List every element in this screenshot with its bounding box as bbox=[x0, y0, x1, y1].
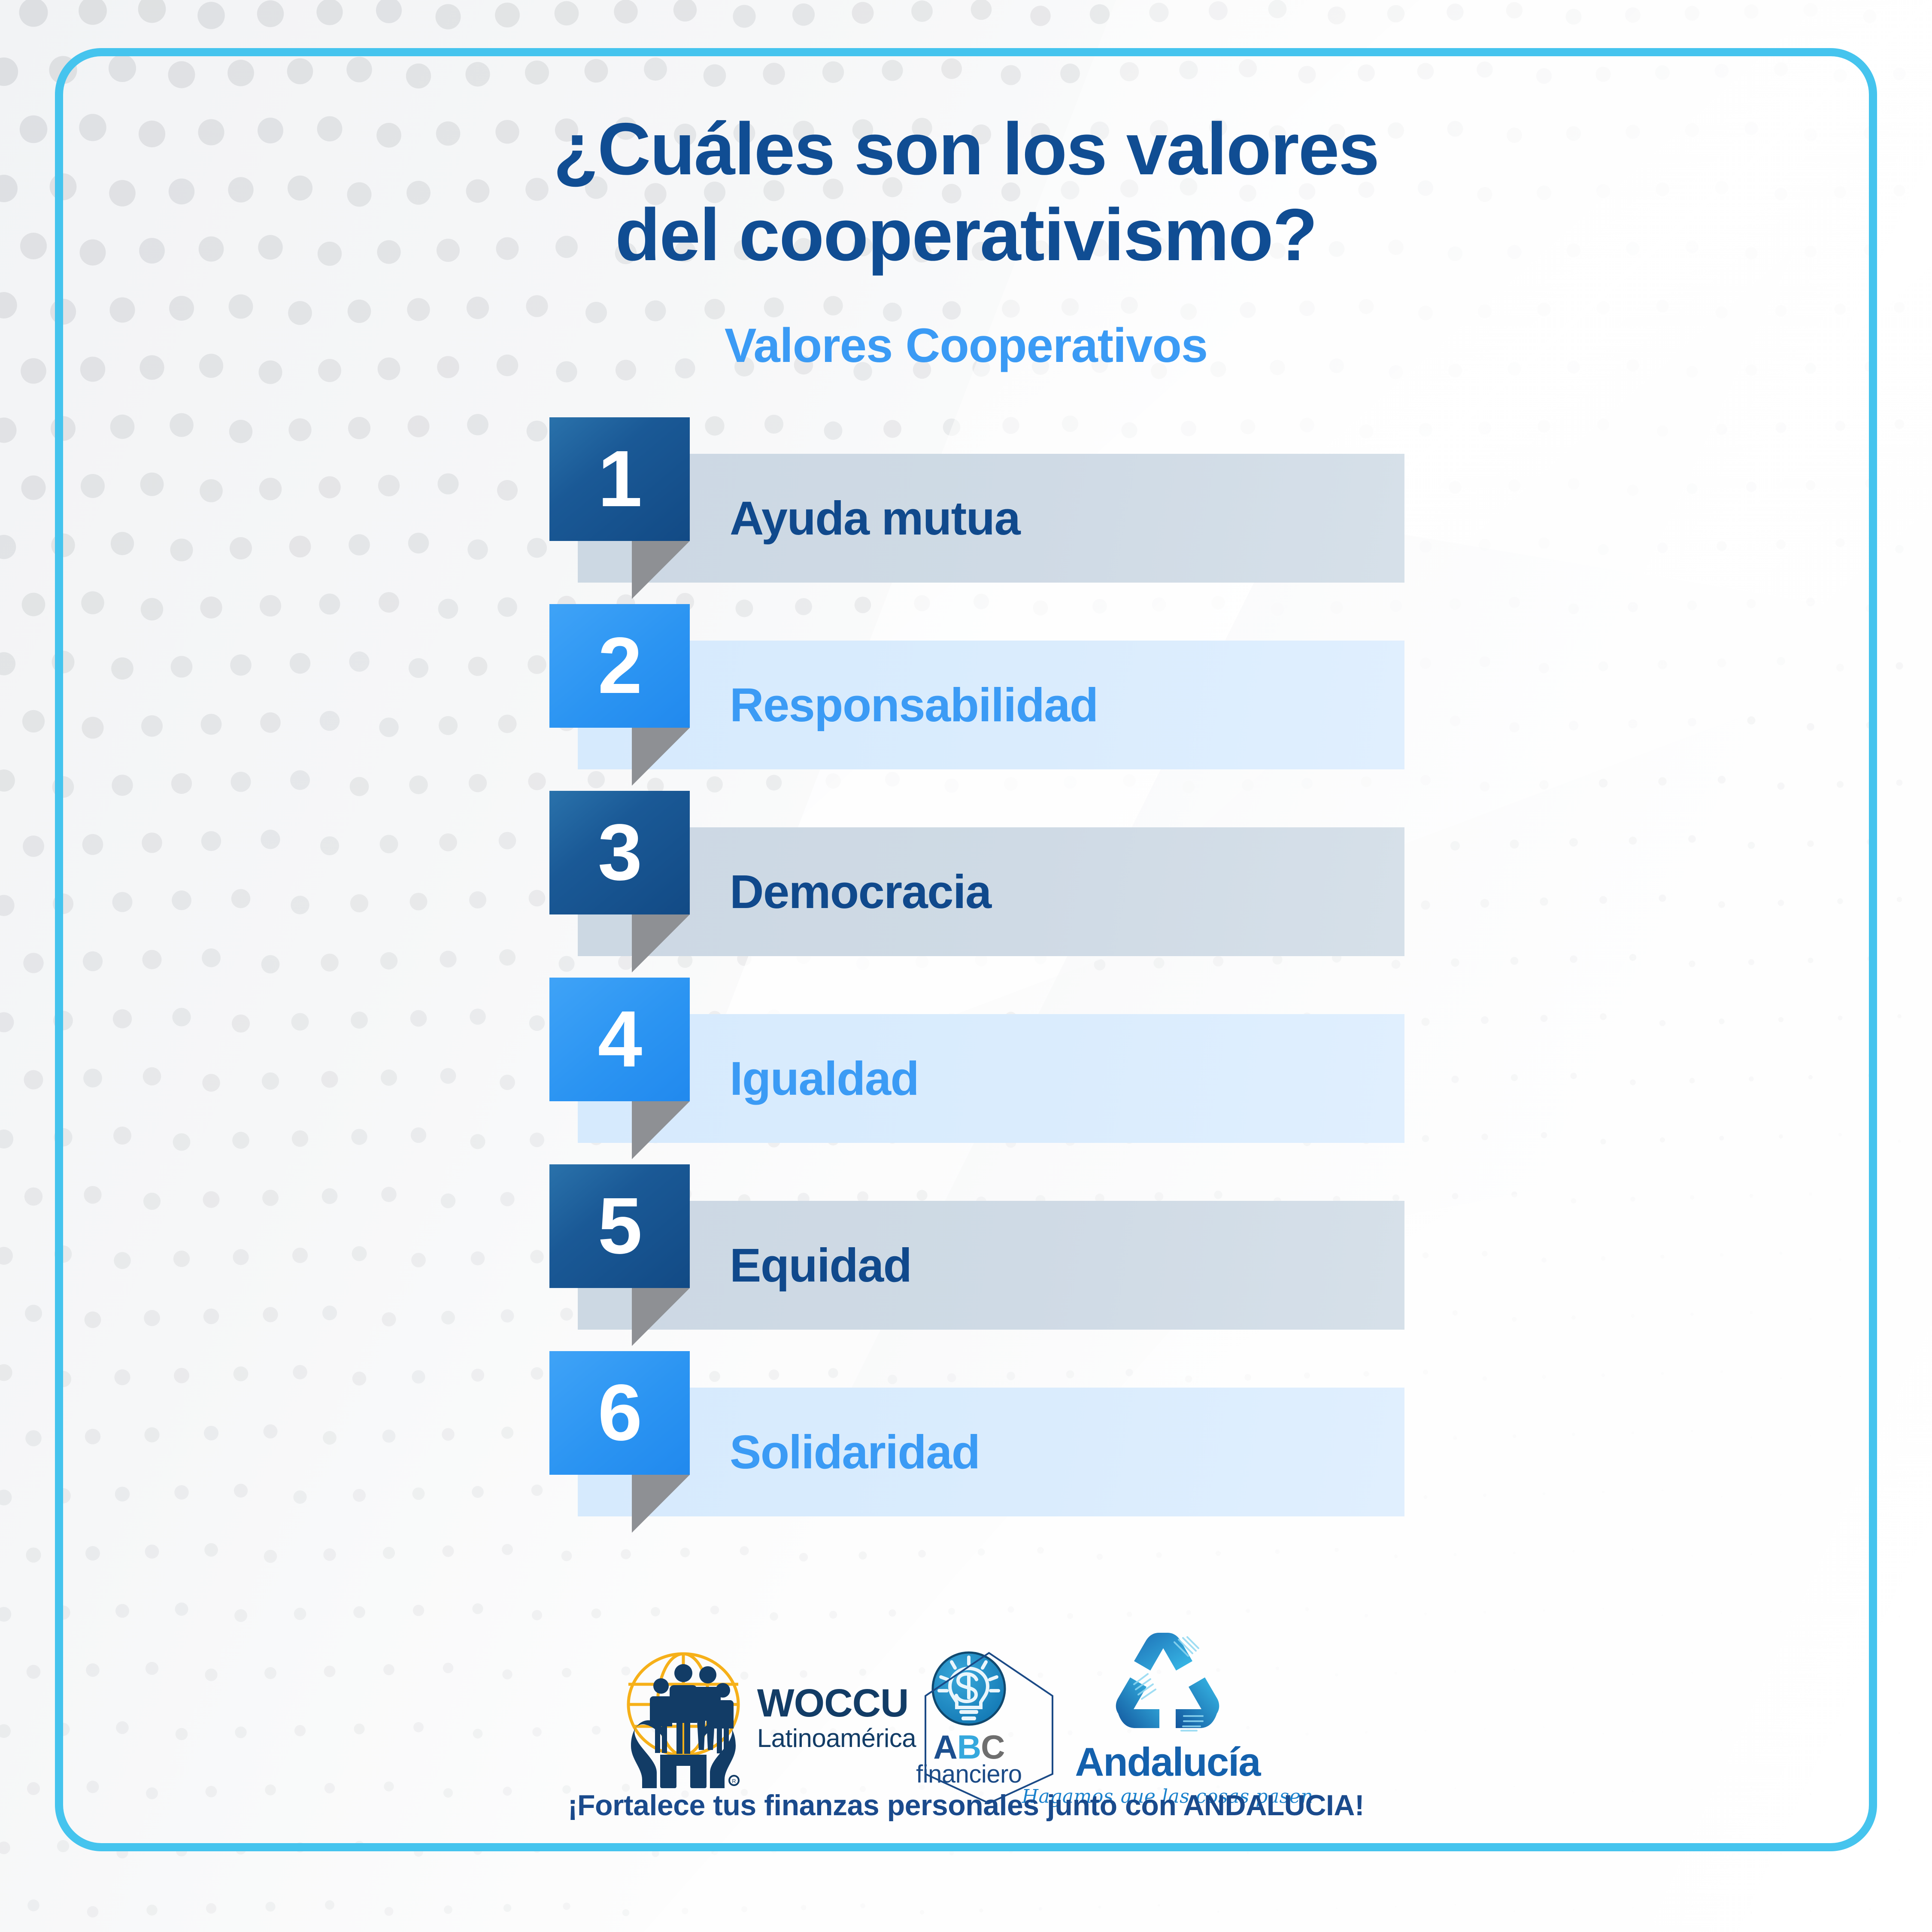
value-label: Democracia bbox=[730, 827, 991, 956]
number-shadow bbox=[632, 1475, 690, 1533]
number-text: 5 bbox=[598, 1186, 641, 1266]
globe-in-hands-icon: R bbox=[619, 1646, 748, 1788]
number-shadow bbox=[632, 1101, 690, 1159]
woccu-logo: R WOCCU Latinoamérica bbox=[619, 1646, 916, 1788]
abc-financiero-logo: ABC financiero bbox=[916, 1648, 1022, 1787]
number-badge: 4 bbox=[549, 978, 690, 1101]
number-text: 1 bbox=[598, 439, 641, 519]
value-label: Igualdad bbox=[730, 1014, 919, 1143]
number-badge: 6 bbox=[549, 1351, 690, 1475]
andalucia-logo: Andalucía Hagamos que las cosas pasen bbox=[1022, 1628, 1313, 1807]
value-item-3: 3 Democracia bbox=[549, 791, 1408, 978]
woccu-subtitle: Latinoamérica bbox=[757, 1725, 916, 1751]
cooperative-values-list: 1 Ayuda mutua 2 Responsabilidad 3 Democr… bbox=[549, 417, 1408, 1538]
page-title: ¿Cuáles son los valores del cooperativis… bbox=[0, 106, 1932, 278]
number-badge: 5 bbox=[549, 1164, 690, 1288]
value-label: Ayuda mutua bbox=[730, 454, 1020, 583]
woccu-name: WOCCU bbox=[757, 1683, 916, 1723]
value-bar bbox=[578, 827, 1404, 956]
interlocking-hands-triangle-icon bbox=[1107, 1628, 1228, 1739]
value-item-5: 5 Equidad bbox=[549, 1164, 1408, 1351]
number-badge: 2 bbox=[549, 604, 690, 728]
value-bar bbox=[578, 1388, 1404, 1516]
value-bar bbox=[578, 1201, 1404, 1330]
number-badge: 1 bbox=[549, 417, 690, 541]
andalucia-name: Andalucía bbox=[1075, 1742, 1260, 1782]
value-item-4: 4 Igualdad bbox=[549, 978, 1408, 1164]
number-shadow bbox=[632, 1288, 690, 1346]
partner-logos: R WOCCU Latinoamérica bbox=[0, 1631, 1932, 1803]
value-bar bbox=[578, 1014, 1404, 1143]
number-shadow bbox=[632, 541, 690, 599]
number-text: 6 bbox=[598, 1373, 641, 1453]
title-line-2: del cooperativismo? bbox=[0, 192, 1932, 278]
value-label: Equidad bbox=[730, 1201, 911, 1330]
page-subtitle: Valores Cooperativos bbox=[0, 318, 1932, 373]
number-shadow bbox=[632, 914, 690, 972]
number-badge: 3 bbox=[549, 791, 690, 914]
footer-tagline: ¡Fortalece tus finanzas personales junto… bbox=[0, 1789, 1932, 1822]
number-text: 2 bbox=[598, 626, 641, 706]
value-label: Solidaridad bbox=[730, 1388, 980, 1516]
value-item-6: 6 Solidaridad bbox=[549, 1351, 1408, 1538]
title-line-1: ¿Cuáles son los valores bbox=[0, 106, 1932, 192]
value-item-2: 2 Responsabilidad bbox=[549, 604, 1408, 791]
value-label: Responsabilidad bbox=[730, 641, 1098, 769]
number-shadow bbox=[632, 728, 690, 786]
value-item-1: 1 Ayuda mutua bbox=[549, 417, 1408, 604]
number-text: 3 bbox=[598, 813, 641, 893]
number-text: 4 bbox=[598, 999, 641, 1079]
svg-text:R: R bbox=[732, 1778, 736, 1784]
abc-hexagon-outline-icon bbox=[916, 1645, 1062, 1808]
